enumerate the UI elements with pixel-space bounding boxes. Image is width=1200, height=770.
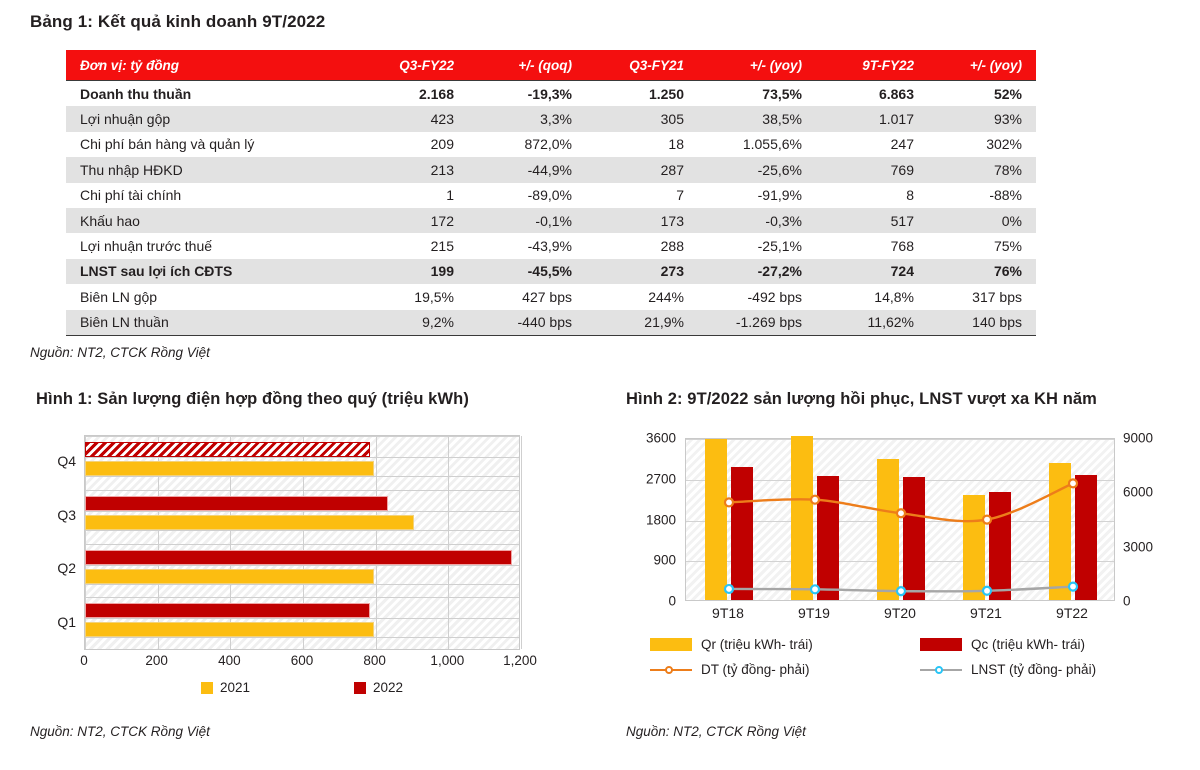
figure2-title: Hình 2: 9T/2022 sản lượng hồi phục, LNST… <box>626 390 1097 409</box>
table-row: Chi phí bán hàng và quản lý209872,0%181.… <box>66 132 1036 157</box>
figure2-legend-label: Qr (triệu kWh- trái) <box>701 637 813 652</box>
row-label: Doanh thu thuần <box>66 81 356 107</box>
figure2-marker-lnst <box>897 587 905 595</box>
figure2-left-tick-label: 0 <box>620 594 676 609</box>
cell-yoy-q3: -91,9% <box>698 183 816 208</box>
cell-q3fy21: 1.250 <box>586 81 698 107</box>
figure1-chart: 02004006008001,0001,200 20212022 Q1Q2Q3Q… <box>28 425 568 690</box>
cell-yoy-q3: 38,5% <box>698 106 816 131</box>
col-header-q3fy21: Q3-FY21 <box>586 50 698 81</box>
figure1-bar-2022 <box>85 603 370 618</box>
figure2-left-tick-label: 1800 <box>620 512 676 527</box>
figure2-right-tick-label: 0 <box>1123 594 1183 609</box>
cell-q3fy21: 273 <box>586 259 698 284</box>
figure2-line-overlay <box>686 439 1116 602</box>
figure1-gridline-v <box>521 436 522 649</box>
cell-q3fy22: 1 <box>356 183 468 208</box>
figure1-category-label: Q2 <box>28 560 76 576</box>
figure1-x-tick-label: 800 <box>363 653 386 668</box>
cell-qoq: -89,0% <box>468 183 586 208</box>
row-label: Lợi nhuận gộp <box>66 106 356 131</box>
legend-swatch-icon <box>920 638 962 651</box>
cell-qoq: -43,9% <box>468 233 586 258</box>
figure1-gridline-h <box>85 618 519 619</box>
cell-yoy-9t: 0% <box>928 208 1036 233</box>
figure2-x-tick-label: 9T18 <box>712 605 744 621</box>
figure1-gridline-h <box>85 584 519 585</box>
cell-qoq: 872,0% <box>468 132 586 157</box>
col-header-9tfy22: 9T-FY22 <box>816 50 928 81</box>
figure2-legend-label: LNST (tỷ đồng- phải) <box>971 662 1096 677</box>
legend-swatch-icon <box>201 682 213 694</box>
figure1-bar-2021 <box>85 515 414 530</box>
cell-yoy-q3: 1.055,6% <box>698 132 816 157</box>
cell-9tfy22: 769 <box>816 157 928 182</box>
figure2-marker-lnst <box>811 585 819 593</box>
figure1-gridline-h <box>85 511 519 512</box>
figure2-marker-dt <box>1069 479 1077 487</box>
cell-yoy-q3: -0,3% <box>698 208 816 233</box>
cell-yoy-9t: 302% <box>928 132 1036 157</box>
cell-9tfy22: 14,8% <box>816 284 928 309</box>
figure2-right-tick-label: 3000 <box>1123 539 1183 554</box>
figure2-plot-area <box>685 438 1115 601</box>
figure2-left-tick-label: 3600 <box>620 431 676 446</box>
cell-q3fy21: 173 <box>586 208 698 233</box>
row-label: Chi phí tài chính <box>66 183 356 208</box>
figure2-marker-lnst <box>983 587 991 595</box>
figure2-legend-label: DT (tỷ đồng- phải) <box>701 662 810 677</box>
cell-9tfy22: 768 <box>816 233 928 258</box>
legend-line-marker-icon <box>650 663 692 676</box>
figure1-gridline-h <box>85 436 519 437</box>
cell-q3fy22: 199 <box>356 259 468 284</box>
figure1-category-group <box>85 544 521 598</box>
table-row: Biên LN thuần9,2%-440 bps21,9%-1.269 bps… <box>66 310 1036 336</box>
legend-swatch-icon <box>650 638 692 651</box>
cell-qoq: -45,5% <box>468 259 586 284</box>
cell-q3fy21: 244% <box>586 284 698 309</box>
legend-swatch-icon <box>354 682 366 694</box>
cell-yoy-9t: -88% <box>928 183 1036 208</box>
cell-9tfy22: 1.017 <box>816 106 928 131</box>
figure1-legend: 20212022 <box>84 680 520 695</box>
figure1-gridline-h <box>85 565 519 566</box>
figure2-marker-dt <box>983 516 991 524</box>
cell-yoy-q3: -25,1% <box>698 233 816 258</box>
report-page: Bảng 1: Kết quả kinh doanh 9T/2022 Đơn v… <box>0 0 1200 770</box>
row-label: LNST sau lợi ích CĐTS <box>66 259 356 284</box>
figure1-bar-2022 <box>85 496 388 511</box>
cell-qoq: -19,3% <box>468 81 586 107</box>
figure2-x-axis: 9T189T199T209T219T22 <box>685 605 1115 625</box>
col-header-q3fy22: Q3-FY22 <box>356 50 468 81</box>
cell-9tfy22: 247 <box>816 132 928 157</box>
results-table-wrapper: Đơn vị: tỷ đồng Q3-FY22 +/- (qoq) Q3-FY2… <box>66 50 1036 336</box>
figure1-gridline-h <box>85 476 519 477</box>
cell-yoy-9t: 93% <box>928 106 1036 131</box>
cell-q3fy22: 19,5% <box>356 284 468 309</box>
legend-marker-icon <box>935 666 943 674</box>
table-row: Chi phí tài chính1-89,0%7-91,9%8-88% <box>66 183 1036 208</box>
figure2-marker-lnst <box>1069 583 1077 591</box>
cell-qoq: -0,1% <box>468 208 586 233</box>
table-row: Lợi nhuận gộp4233,3%30538,5%1.01793% <box>66 106 1036 131</box>
cell-yoy-q3: -27,2% <box>698 259 816 284</box>
figure1-gridline-h <box>85 457 519 458</box>
figure1-category-group <box>85 597 521 651</box>
cell-yoy-q3: -25,6% <box>698 157 816 182</box>
figure1-plot-area <box>84 435 520 650</box>
cell-q3fy22: 213 <box>356 157 468 182</box>
figure2-legend-item[interactable]: DT (tỷ đồng- phải) <box>650 662 900 677</box>
cell-qoq: -44,9% <box>468 157 586 182</box>
figure1-gridline-h <box>85 544 519 545</box>
figure1-source-note: Nguồn: NT2, CTCK Rồng Việt <box>30 724 210 739</box>
figure2-left-tick-label: 900 <box>620 553 676 568</box>
figure1-gridline-h <box>85 490 519 491</box>
figure1-category-label: Q3 <box>28 507 76 523</box>
table-row: Doanh thu thuần2.168-19,3%1.25073,5%6.86… <box>66 81 1036 107</box>
table-row: Biên LN gộp19,5%427 bps244%-492 bps14,8%… <box>66 284 1036 309</box>
table-source-note: Nguồn: NT2, CTCK Rồng Việt <box>30 345 210 360</box>
col-header-yoy-q3: +/- (yoy) <box>698 50 816 81</box>
figure1-category-label: Q1 <box>28 614 76 630</box>
cell-q3fy22: 2.168 <box>356 81 468 107</box>
cell-qoq: 3,3% <box>468 106 586 131</box>
figure1-legend-label: 2022 <box>373 680 403 695</box>
cell-qoq: 427 bps <box>468 284 586 309</box>
figure2-left-tick-label: 2700 <box>620 471 676 486</box>
figure1-bar-2021 <box>85 622 374 637</box>
figure1-title: Hình 1: Sản lượng điện hợp đồng theo quý… <box>36 390 469 409</box>
table-header-row: Đơn vị: tỷ đồng Q3-FY22 +/- (qoq) Q3-FY2… <box>66 50 1036 81</box>
table-row: LNST sau lợi ích CĐTS199-45,5%273-27,2%7… <box>66 259 1036 284</box>
cell-9tfy22: 11,62% <box>816 310 928 336</box>
cell-q3fy22: 172 <box>356 208 468 233</box>
col-header-unit: Đơn vị: tỷ đồng <box>66 50 356 81</box>
figure1-category-group <box>85 436 521 490</box>
figure2-legend: Qr (triệu kWh- trái)Qc (triệu kWh- trái)… <box>650 637 1170 677</box>
legend-marker-icon <box>665 666 673 674</box>
cell-q3fy21: 287 <box>586 157 698 182</box>
cell-q3fy22: 215 <box>356 233 468 258</box>
cell-yoy-q3: -492 bps <box>698 284 816 309</box>
figure1-x-axis: 02004006008001,0001,200 <box>84 653 520 673</box>
table-header: Đơn vị: tỷ đồng Q3-FY22 +/- (qoq) Q3-FY2… <box>66 50 1036 81</box>
figure2-x-tick-label: 9T21 <box>970 605 1002 621</box>
figure1-x-tick-label: 600 <box>291 653 314 668</box>
figure1-legend-item[interactable]: 2022 <box>354 680 403 695</box>
cell-q3fy21: 18 <box>586 132 698 157</box>
figure1-bar-2021 <box>85 461 374 476</box>
table-title: Bảng 1: Kết quả kinh doanh 9T/2022 <box>30 12 325 32</box>
figure1-gridline-h <box>85 530 519 531</box>
cell-q3fy21: 7 <box>586 183 698 208</box>
figure2-x-tick-label: 9T22 <box>1056 605 1088 621</box>
figure2-x-tick-label: 9T19 <box>798 605 830 621</box>
row-label: Thu nhập HĐKD <box>66 157 356 182</box>
cell-q3fy22: 423 <box>356 106 468 131</box>
cell-qoq: -440 bps <box>468 310 586 336</box>
table-body: Doanh thu thuần2.168-19,3%1.25073,5%6.86… <box>66 81 1036 336</box>
figure2-legend-item[interactable]: Qr (triệu kWh- trái) <box>650 637 900 652</box>
cell-yoy-9t: 76% <box>928 259 1036 284</box>
row-label: Biên LN gộp <box>66 284 356 309</box>
figure2-marker-dt <box>811 496 819 504</box>
row-label: Khấu hao <box>66 208 356 233</box>
figure2-right-tick-label: 9000 <box>1123 431 1183 446</box>
figure1-category-label: Q4 <box>28 453 76 469</box>
figure1-legend-item[interactable]: 2021 <box>201 680 250 695</box>
cell-yoy-9t: 78% <box>928 157 1036 182</box>
cell-yoy-9t: 140 bps <box>928 310 1036 336</box>
figure2-legend-label: Qc (triệu kWh- trái) <box>971 637 1085 652</box>
cell-9tfy22: 8 <box>816 183 928 208</box>
figure1-gridline-h <box>85 597 519 598</box>
figure1-gridline-h <box>85 637 519 638</box>
figure2-x-tick-label: 9T20 <box>884 605 916 621</box>
figure1-x-tick-label: 1,200 <box>503 653 537 668</box>
col-header-qoq: +/- (qoq) <box>468 50 586 81</box>
figure1-bar-2022 <box>85 550 512 565</box>
cell-yoy-9t: 52% <box>928 81 1036 107</box>
cell-9tfy22: 724 <box>816 259 928 284</box>
cell-yoy-q3: 73,5% <box>698 81 816 107</box>
table-row: Lợi nhuận trước thuế215-43,9%288-25,1%76… <box>66 233 1036 258</box>
table-row: Thu nhập HĐKD213-44,9%287-25,6%76978% <box>66 157 1036 182</box>
cell-q3fy21: 305 <box>586 106 698 131</box>
row-label: Chi phí bán hàng và quản lý <box>66 132 356 157</box>
figure2-marker-dt <box>897 509 905 517</box>
figure2-legend-item[interactable]: Qc (triệu kWh- trái) <box>920 637 1170 652</box>
figure2-legend-item[interactable]: LNST (tỷ đồng- phải) <box>920 662 1170 677</box>
cell-9tfy22: 517 <box>816 208 928 233</box>
figure1-x-tick-label: 400 <box>218 653 241 668</box>
figure1-category-group <box>85 490 521 544</box>
cell-yoy-q3: -1.269 bps <box>698 310 816 336</box>
figure2-marker-dt <box>725 498 733 506</box>
figure1-legend-label: 2021 <box>220 680 250 695</box>
table-row: Khấu hao172-0,1%173-0,3%5170% <box>66 208 1036 233</box>
cell-q3fy21: 21,9% <box>586 310 698 336</box>
cell-9tfy22: 6.863 <box>816 81 928 107</box>
col-header-yoy-9t: +/- (yoy) <box>928 50 1036 81</box>
figure1-bar-2021 <box>85 569 374 584</box>
cell-q3fy21: 288 <box>586 233 698 258</box>
cell-q3fy22: 209 <box>356 132 468 157</box>
row-label: Biên LN thuần <box>66 310 356 336</box>
cell-yoy-9t: 75% <box>928 233 1036 258</box>
figure1-x-tick-label: 0 <box>80 653 88 668</box>
figure2-chart: 9T189T199T209T219T22 Qr (triệu kWh- trái… <box>620 425 1190 690</box>
figure1-x-tick-label: 200 <box>145 653 168 668</box>
cell-yoy-9t: 317 bps <box>928 284 1036 309</box>
figure1-bar-2022 <box>85 442 370 457</box>
figure1-x-tick-label: 1,000 <box>430 653 464 668</box>
figure2-right-tick-label: 6000 <box>1123 485 1183 500</box>
cell-q3fy22: 9,2% <box>356 310 468 336</box>
row-label: Lợi nhuận trước thuế <box>66 233 356 258</box>
figure2-source-note: Nguồn: NT2, CTCK Rồng Việt <box>626 724 806 739</box>
figure2-marker-lnst <box>725 585 733 593</box>
legend-line-marker-icon <box>920 663 962 676</box>
results-table: Đơn vị: tỷ đồng Q3-FY22 +/- (qoq) Q3-FY2… <box>66 50 1036 336</box>
